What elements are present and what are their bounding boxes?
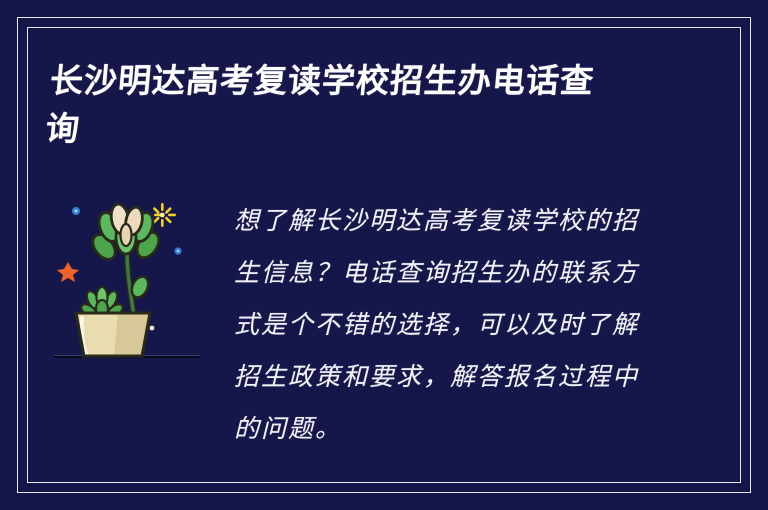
flower-pot-icon xyxy=(76,313,154,356)
blue-dot-icon xyxy=(72,207,80,215)
body-paragraph: 想了解长沙明达高考复读学校的招生信息？电话查询招生办的联系方式是个不错的选择，可… xyxy=(234,195,654,455)
page-title: 长沙明达高考复读学校招生办电话查询 xyxy=(44,57,612,153)
content-area: 想了解长沙明达高考复读学校的招生信息？电话查询招生办的联系方式是个不错的选择，可… xyxy=(48,185,720,460)
yellow-sparkle-icon xyxy=(153,203,176,227)
orange-star-icon xyxy=(57,262,79,282)
potted-plant-illustration xyxy=(48,185,226,375)
blue-dot-small-icon xyxy=(174,247,181,254)
promo-card: 长沙明达高考复读学校招生办电话查询 xyxy=(0,0,768,510)
flower-cluster-icon xyxy=(88,203,163,264)
